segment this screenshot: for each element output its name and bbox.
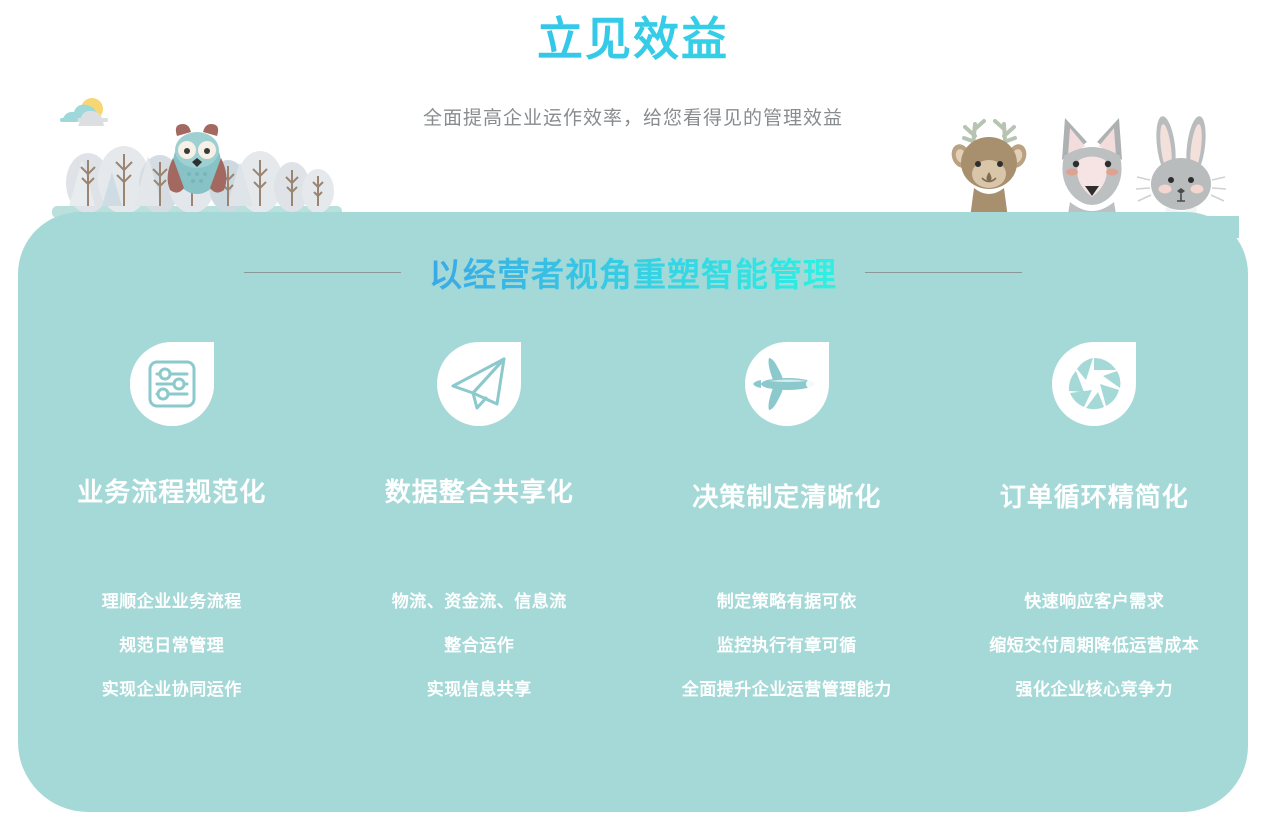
feature-title: 决策制定清晰化 xyxy=(692,477,881,514)
feature-line: 监控执行有章可循 xyxy=(717,631,857,656)
feature-line: 制定策略有据可依 xyxy=(717,587,857,612)
page-root: 立见效益 全面提高企业运作效率，给您看得见的管理效益 xyxy=(0,0,1266,826)
feature-line: 理顺企业业务流程 xyxy=(102,587,242,612)
divider-right xyxy=(865,272,1022,273)
feature-list: 业务流程规范化 理顺企业业务流程 规范日常管理 实现企业协同运作 xyxy=(18,340,1248,700)
page-subtitle: 全面提高企业运作效率，给您看得见的管理效益 xyxy=(0,103,1266,130)
forest-trees-icon xyxy=(66,146,334,214)
feature-line: 强化企业核心竞争力 xyxy=(1016,675,1174,700)
page-title: 立见效益 xyxy=(0,8,1266,70)
feature-title: 数据整合共享化 xyxy=(385,472,574,509)
benefits-panel: 以经营者视角重塑智能管理 xyxy=(18,212,1248,812)
feature-line: 物流、资金流、信息流 xyxy=(392,587,567,612)
feature-line: 实现企业协同运作 xyxy=(102,675,242,700)
owl-icon xyxy=(168,124,227,194)
section-heading: 以经营者视角重塑智能管理 xyxy=(18,248,1248,296)
feature-card-order-cycle[interactable]: 订单循环精简化 快速响应客户需求 缩短交付周期降低运营成本 强化企业核心竞争力 xyxy=(941,340,1249,700)
feature-title: 订单循环精简化 xyxy=(1000,477,1189,514)
sliders-icon xyxy=(128,340,216,428)
feature-line: 快速响应客户需求 xyxy=(1024,587,1164,612)
space-shuttle-icon xyxy=(743,340,831,428)
feature-line: 实现信息共享 xyxy=(427,675,532,700)
feature-lines: 快速响应客户需求 缩短交付周期降低运营成本 强化企业核心竞争力 xyxy=(989,587,1199,700)
feature-card-business-process[interactable]: 业务流程规范化 理顺企业业务流程 规范日常管理 实现企业协同运作 xyxy=(18,340,326,700)
feature-title: 业务流程规范化 xyxy=(77,472,266,509)
section-title: 以经营者视角重塑智能管理 xyxy=(429,248,837,296)
wolf-icon xyxy=(1062,118,1122,226)
paper-plane-icon xyxy=(435,340,523,428)
divider-left xyxy=(244,272,401,273)
aperture-icon xyxy=(1050,340,1138,428)
feature-line: 整合运作 xyxy=(444,631,514,656)
feature-line: 全面提升企业运营管理能力 xyxy=(682,675,892,700)
feature-line: 缩短交付周期降低运营成本 xyxy=(989,631,1199,656)
feature-lines: 物流、资金流、信息流 整合运作 实现信息共享 xyxy=(392,587,567,700)
deer-icon xyxy=(949,121,1030,218)
feature-line: 规范日常管理 xyxy=(119,631,224,656)
feature-lines: 制定策略有据可依 监控执行有章可循 全面提升企业运营管理能力 xyxy=(682,587,892,700)
feature-card-data-sharing[interactable]: 数据整合共享化 物流、资金流、信息流 整合运作 实现信息共享 xyxy=(326,340,634,700)
feature-lines: 理顺企业业务流程 规范日常管理 实现企业协同运作 xyxy=(102,587,242,700)
feature-card-decision-clarity[interactable]: 决策制定清晰化 制定策略有据可依 监控执行有章可循 全面提升企业运营管理能力 xyxy=(633,340,941,700)
